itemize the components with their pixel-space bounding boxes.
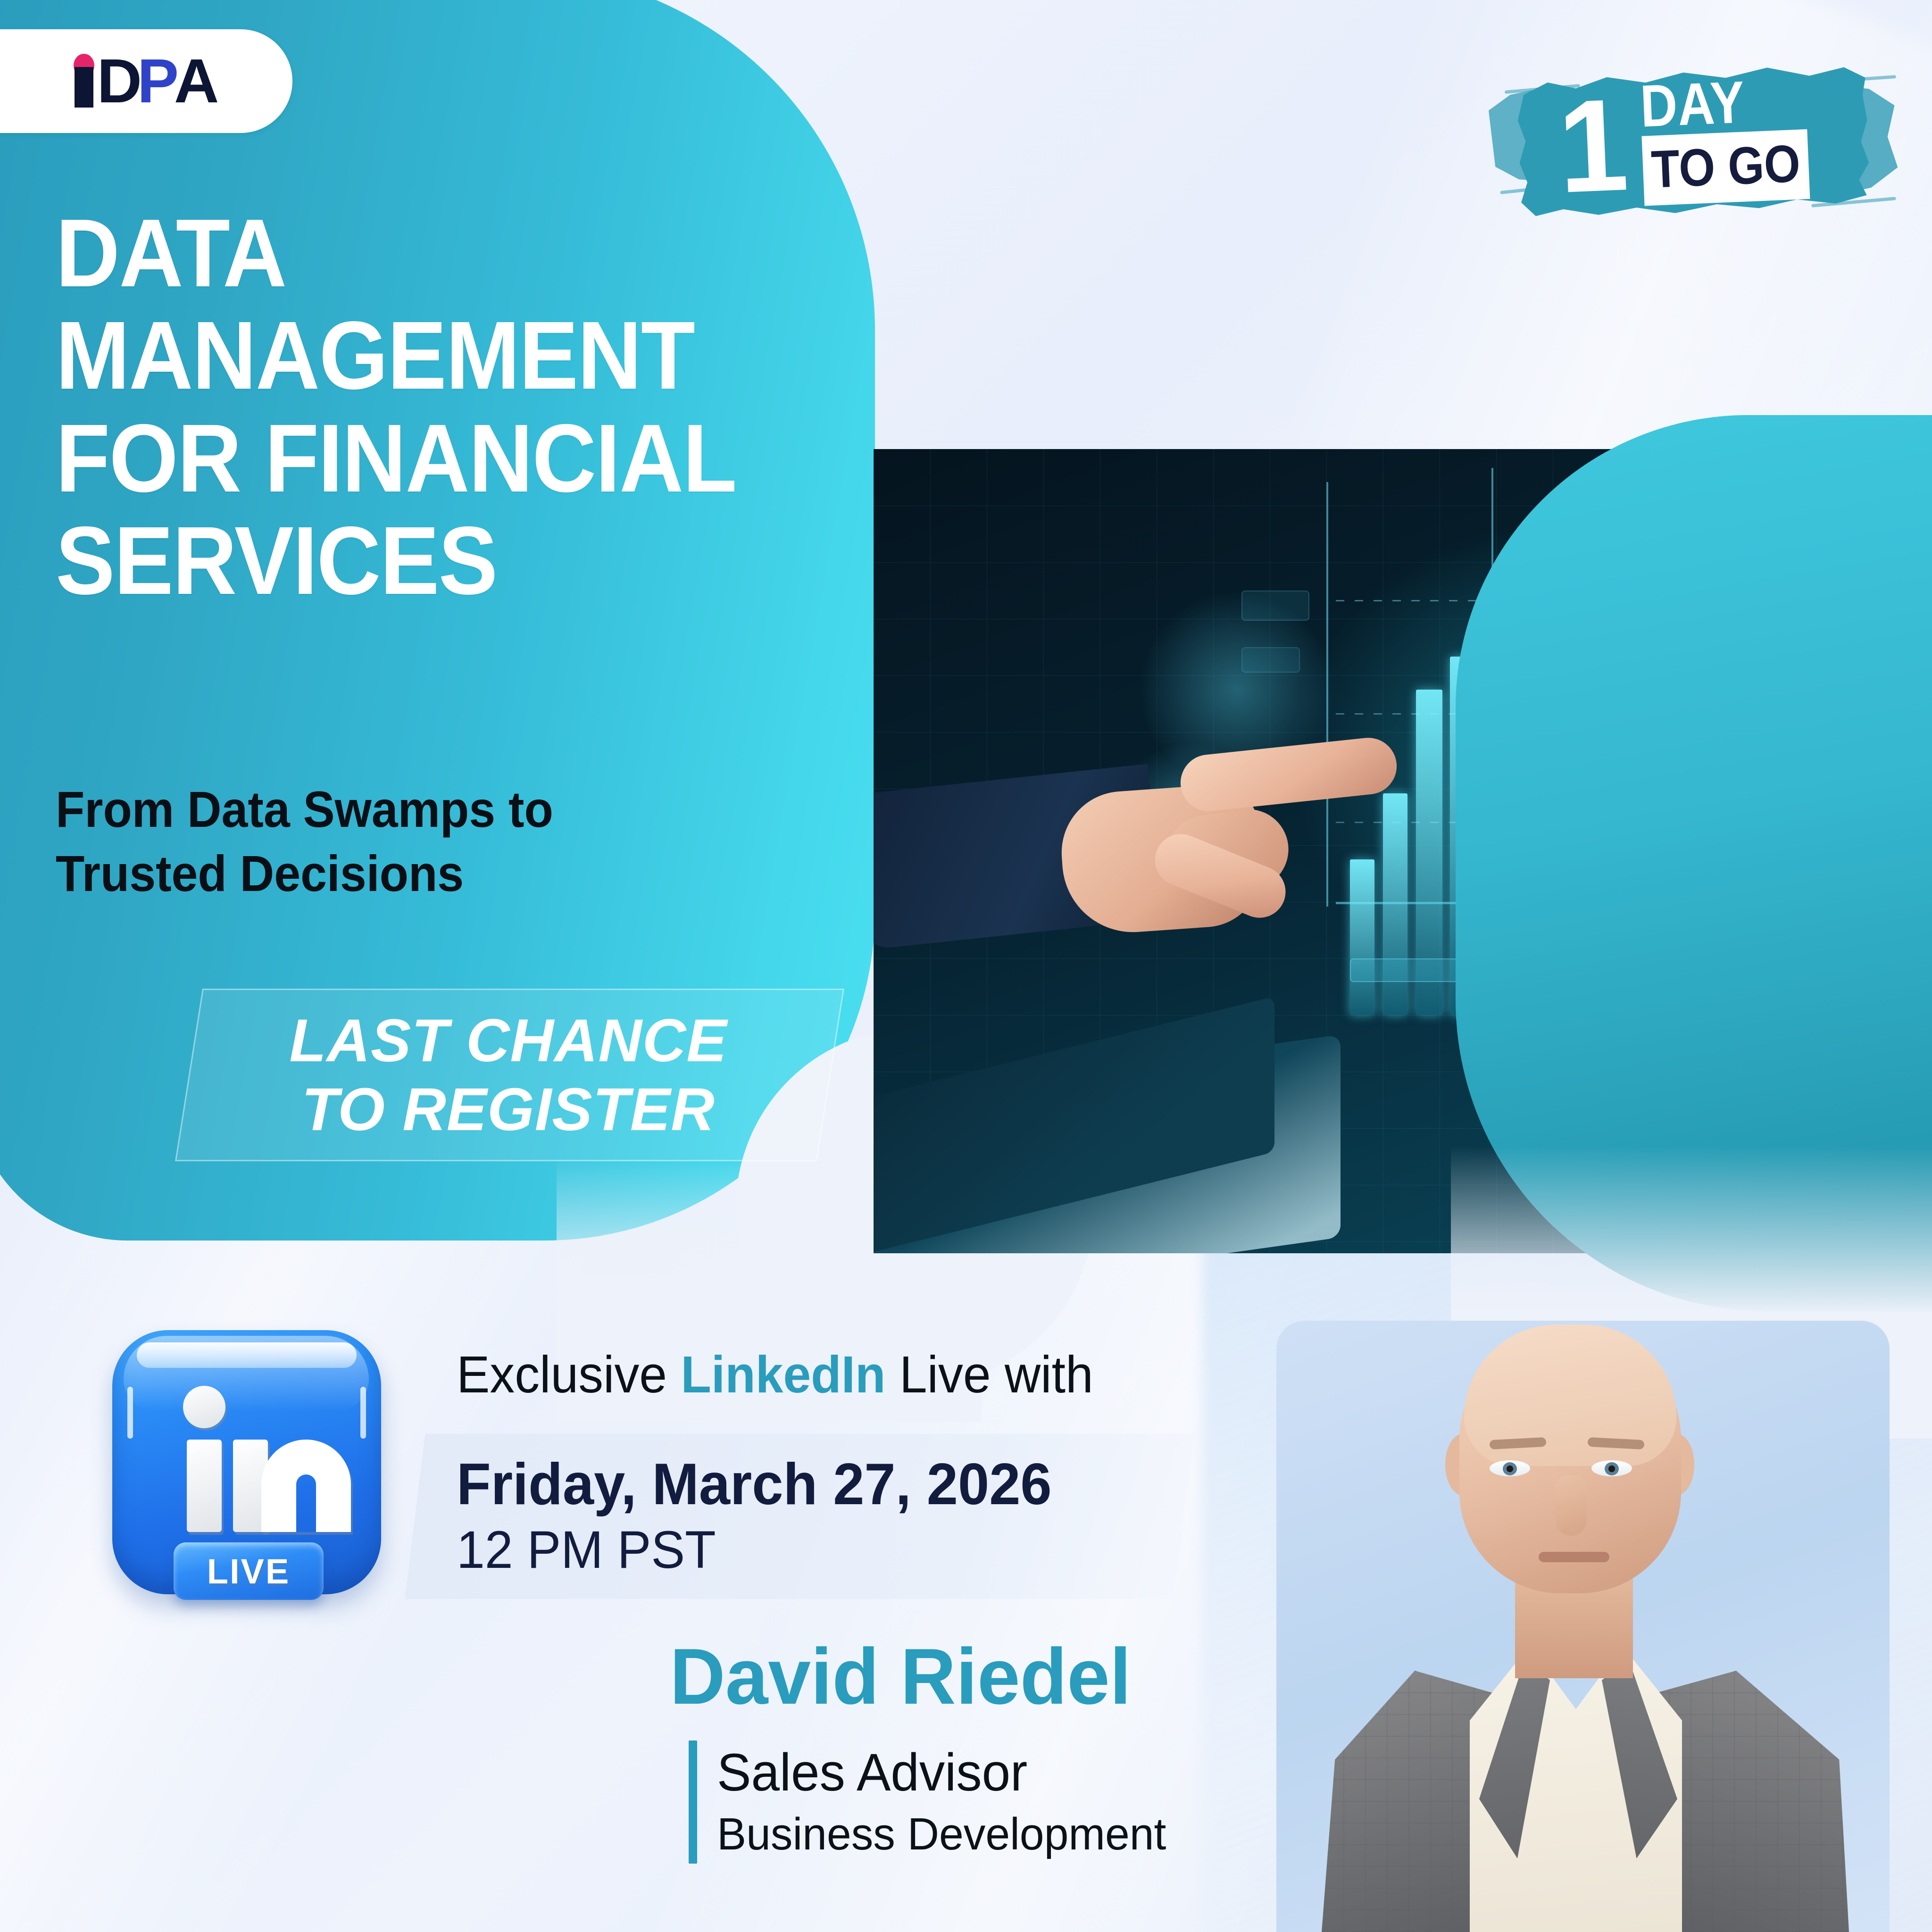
headline-line-2: MANAGEMENT: [56, 304, 785, 407]
hero-hand: [1053, 732, 1411, 954]
event-date: Friday, March 27, 2026: [457, 1454, 1052, 1516]
logo-i-stem: [75, 67, 93, 108]
portrait-nose: [1556, 1475, 1587, 1536]
subtitle: From Data Swamps to Trusted Decisions: [56, 777, 714, 906]
portrait-iris: [1605, 1462, 1619, 1475]
event-headline: Exclusive LinkedIn Live with: [457, 1349, 1093, 1401]
speaker-title: Sales Advisor: [717, 1740, 1166, 1805]
icon-edge-right: [360, 1387, 366, 1439]
logo-letter-a: A: [174, 55, 214, 108]
logo-i-glyph: [73, 55, 97, 108]
hero-ui-chip: [1241, 647, 1300, 673]
linkedin-i-stem-icon: [187, 1440, 222, 1532]
countdown-unit: DAY: [1639, 77, 1746, 131]
headline-line-1: DATA: [56, 202, 785, 304]
linkedin-live-icon[interactable]: LIVE: [112, 1330, 381, 1594]
icon-highlight-bar: [137, 1342, 357, 1368]
portrait-iris: [1503, 1462, 1517, 1475]
logo-wordmark: D P A: [73, 55, 215, 108]
portrait-eye-left: [1490, 1460, 1530, 1476]
promo-poster: D P A DATA MANAGEMENT FOR FINANCIAL SERV…: [0, 0, 1932, 1932]
cta-line-2: TO REGISTER: [301, 1075, 715, 1144]
portrait-mouth: [1539, 1552, 1609, 1562]
portrait-eye-right: [1591, 1460, 1632, 1476]
headline-line-3: FOR FINANCIAL: [56, 407, 785, 509]
logo-letter-p: P: [137, 55, 174, 108]
cta-banner[interactable]: LAST CHANCE TO REGISTER: [189, 1000, 828, 1151]
event-datetime: Friday, March 27, 2026 12 PM PST: [457, 1454, 1052, 1584]
speaker-department: Business Development: [717, 1805, 1166, 1864]
cta-line-1: LAST CHANCE: [289, 1007, 727, 1075]
hero-index-finger: [1178, 735, 1399, 814]
countdown-number: 1: [1557, 93, 1630, 198]
accent-bar: [689, 1740, 697, 1864]
page-title: DATA MANAGEMENT FOR FINANCIAL SERVICES: [56, 202, 785, 612]
linkedin-n-arch: [261, 1440, 351, 1532]
hero-ui-chip: [1241, 591, 1309, 621]
subtitle-line-2: Trusted Decisions: [56, 841, 714, 906]
event-suffix: Live with: [886, 1346, 1093, 1404]
event-prefix: Exclusive: [457, 1346, 681, 1404]
brand-logo[interactable]: D P A: [0, 29, 292, 133]
speaker-name: David Riedel: [670, 1637, 1131, 1716]
linkedin-n-icon: [233, 1440, 351, 1532]
speaker-portrait: [1276, 1297, 1932, 1932]
logo-letter-d: D: [97, 55, 137, 108]
countdown-labels: DAY TO GO: [1639, 74, 1832, 206]
speaker-role-text: Sales Advisor Business Development: [717, 1740, 1166, 1864]
subtitle-line-1: From Data Swamps to: [56, 777, 714, 841]
countdown-badge: 1 DAY TO GO: [1486, 45, 1901, 248]
countdown-content: 1 DAY TO GO: [1516, 64, 1871, 220]
countdown-suffix: TO GO: [1641, 129, 1810, 206]
linkedin-brand-text: LinkedIn: [681, 1346, 885, 1404]
live-badge: LIVE: [174, 1542, 324, 1600]
icon-edge-left: [127, 1387, 133, 1439]
live-badge-label: LIVE: [207, 1551, 290, 1591]
speaker-role: Sales Advisor Business Development: [689, 1740, 1180, 1864]
headline-line-4: SERVICES: [56, 509, 785, 612]
linkedin-i-dot-icon: [183, 1386, 225, 1428]
event-time: 12 PM PST: [457, 1516, 1052, 1584]
